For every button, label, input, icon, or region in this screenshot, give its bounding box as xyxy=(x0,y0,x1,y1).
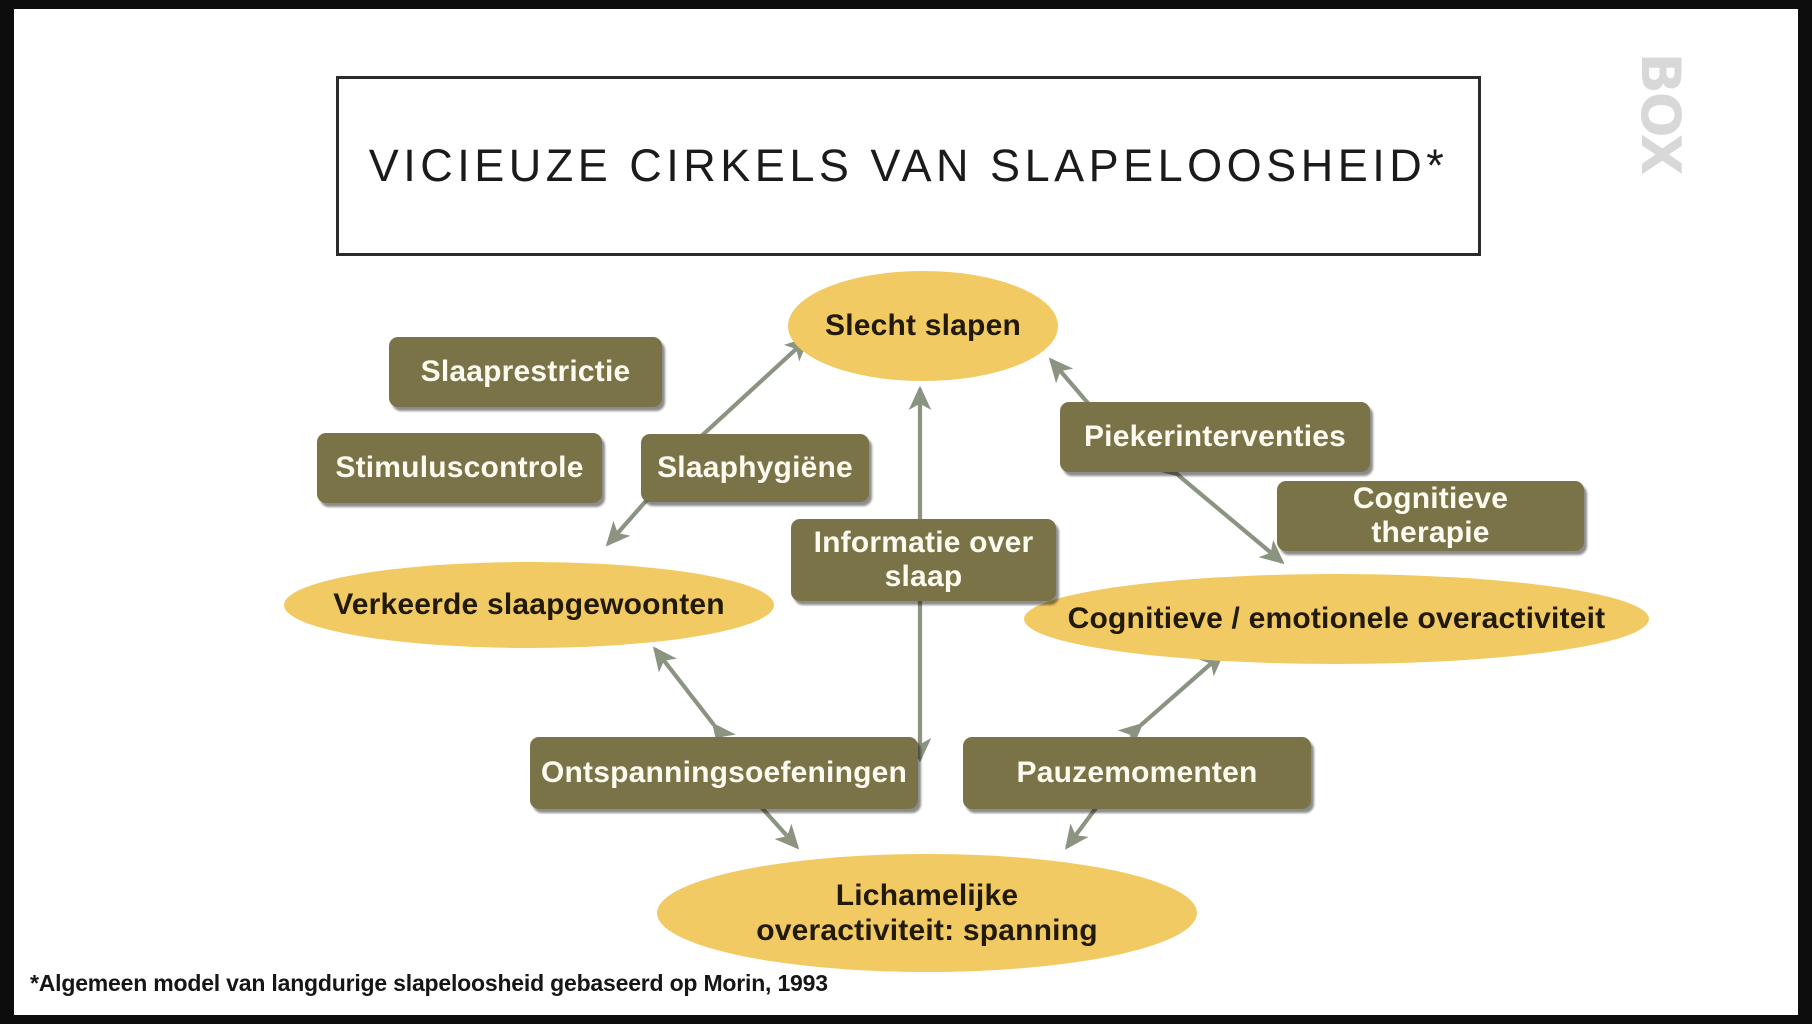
node-label: Slaaprestrictie xyxy=(421,355,631,389)
node-label: Piekerinterventies xyxy=(1084,420,1346,454)
arrow-ontspanning-verkeerde xyxy=(655,649,714,725)
node-ontspanningsoefeningen[interactable]: Ontspanningsoefeningen xyxy=(530,737,918,809)
node-piekerinterventies[interactable]: Piekerinterventies xyxy=(1060,402,1370,472)
node-label: Pauzemomenten xyxy=(1017,756,1258,790)
node-slaaprestrictie[interactable]: Slaaprestrictie xyxy=(389,337,662,407)
arrow-slaaphygiene-slecht-slapen xyxy=(696,339,807,441)
node-label: Ontspanningsoefeningen xyxy=(541,756,907,790)
node-label-line1: Informatie over xyxy=(814,526,1034,560)
node-label: Slaaphygiëne xyxy=(657,451,853,485)
node-slecht-slapen[interactable]: Slecht slapen xyxy=(788,271,1058,381)
arrow-pauze-cognitieve xyxy=(1141,654,1222,725)
node-label-line2: overactiviteit: spanning xyxy=(756,913,1098,948)
node-informatie-over-slaap[interactable]: Informatie over slaap xyxy=(791,519,1056,601)
box-logo-text: BOX xyxy=(1633,53,1687,174)
node-label-line2: slaap xyxy=(885,560,963,594)
node-slaaphygiene[interactable]: Slaaphygiëne xyxy=(641,434,869,502)
node-label: Stimuluscontrole xyxy=(335,451,583,485)
node-verkeerde-slaapgewoonten[interactable]: Verkeerde slaapgewoonten xyxy=(284,562,774,648)
node-label: Cognitieve therapie xyxy=(1293,482,1568,549)
node-label: Cognitieve / emotionele overactiviteit xyxy=(1068,601,1606,636)
node-lichamelijke-overactiviteit[interactable]: Lichamelijke overactiviteit: spanning xyxy=(657,854,1197,972)
node-stimuluscontrole[interactable]: Stimuluscontrole xyxy=(317,433,602,503)
node-cognitieve-therapie[interactable]: Cognitieve therapie xyxy=(1277,481,1584,551)
node-cognitieve-emotionele-overactiviteit[interactable]: Cognitieve / emotionele overactiviteit xyxy=(1024,574,1649,664)
node-label: Slecht slapen xyxy=(825,308,1021,343)
node-label-line1: Lichamelijke xyxy=(836,878,1019,913)
slide-root: VICIEUZE CIRKELS VAN SLAPELOOSHEID* BOX xyxy=(0,0,1812,1024)
node-label: Verkeerde slaapgewoonten xyxy=(333,587,725,622)
slide-canvas: VICIEUZE CIRKELS VAN SLAPELOOSHEID* BOX xyxy=(14,9,1798,1015)
page-title: VICIEUZE CIRKELS VAN SLAPELOOSHEID* xyxy=(339,140,1478,192)
node-pauzemomenten[interactable]: Pauzemomenten xyxy=(963,737,1311,809)
footnote: *Algemeen model van langdurige slapeloos… xyxy=(30,970,828,997)
arrow-pieker-cognitieve xyxy=(1178,475,1282,562)
box-logo: BOX xyxy=(1622,61,1698,165)
title-box: VICIEUZE CIRKELS VAN SLAPELOOSHEID* xyxy=(336,76,1481,256)
